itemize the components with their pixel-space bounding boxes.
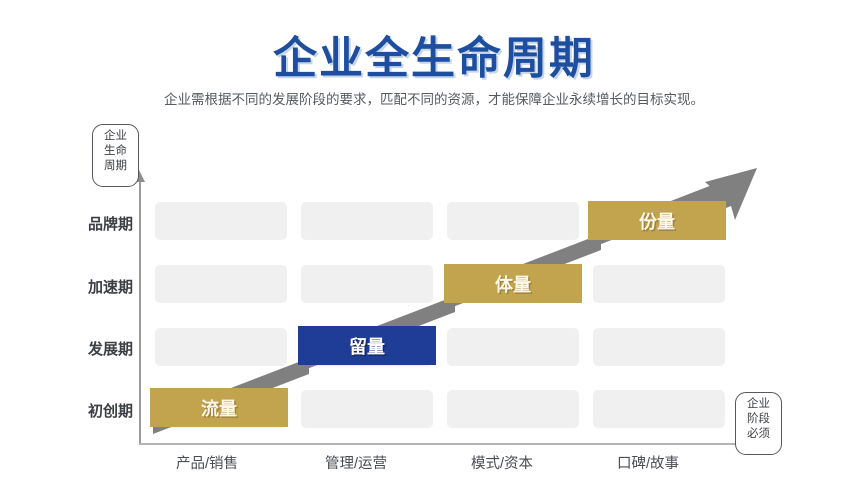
y-axis-callout-line-1: 企业: [98, 129, 133, 144]
stage-bar-label: 留量: [349, 333, 385, 359]
y-axis-callout: 企业 生命 周期: [92, 124, 139, 187]
x-axis-label-2: 管理/运营: [281, 452, 431, 473]
grid-cell: [447, 328, 579, 366]
stage-bar-份量[interactable]: 份量: [588, 201, 726, 240]
grid-cell: [301, 265, 433, 303]
x-axis-callout: 企业 阶段 必须: [735, 392, 782, 455]
x-axis-callout-line-3: 必须: [741, 427, 776, 442]
x-axis-callout-line-2: 阶段: [741, 412, 776, 427]
grid-cell: [155, 328, 287, 366]
y-axis-line: [139, 180, 141, 444]
x-axis-callout-line-1: 企业: [741, 397, 776, 412]
y-axis-label-1: 品牌期: [57, 213, 133, 234]
y-axis-label-2: 加速期: [57, 276, 133, 297]
y-axis-label-3: 发展期: [57, 338, 133, 359]
y-axis-labels: 品牌期 加速期 发展期 初创期: [0, 0, 133, 500]
x-axis-label-3: 模式/资本: [427, 452, 577, 473]
y-axis-callout-line-2: 生命: [98, 144, 133, 159]
y-axis-callout-line-3: 周期: [98, 159, 133, 174]
slide-canvas: 企业全生命周期 企业需根据不同的发展阶段的要求，匹配不同的资源，才能保障企业永续…: [0, 0, 868, 500]
x-axis-line: [139, 443, 754, 445]
grid-cell: [593, 328, 725, 366]
x-axis-label-4: 口碑/故事: [573, 452, 723, 473]
grid-cell: [593, 390, 725, 428]
grid-cell: [155, 202, 287, 240]
stage-bar-label: 流量: [201, 395, 237, 421]
stage-bar-label: 份量: [639, 208, 675, 234]
stage-bar-label: 体量: [495, 271, 531, 297]
x-axis-label-1: 产品/销售: [132, 452, 282, 473]
x-axis-labels: 产品/销售 管理/运营 模式/资本 口碑/故事: [139, 452, 755, 476]
grid-cell: [593, 265, 725, 303]
grid-cell: [155, 265, 287, 303]
stage-bar-体量[interactable]: 体量: [444, 264, 582, 303]
grid-cell: [301, 390, 433, 428]
grid-cell: [447, 202, 579, 240]
stage-bar-流量[interactable]: 流量: [150, 388, 288, 427]
grid-cell: [301, 202, 433, 240]
y-axis-label-4: 初创期: [57, 400, 133, 421]
grid-cell: [447, 390, 579, 428]
stage-bar-留量[interactable]: 留量: [298, 326, 436, 365]
